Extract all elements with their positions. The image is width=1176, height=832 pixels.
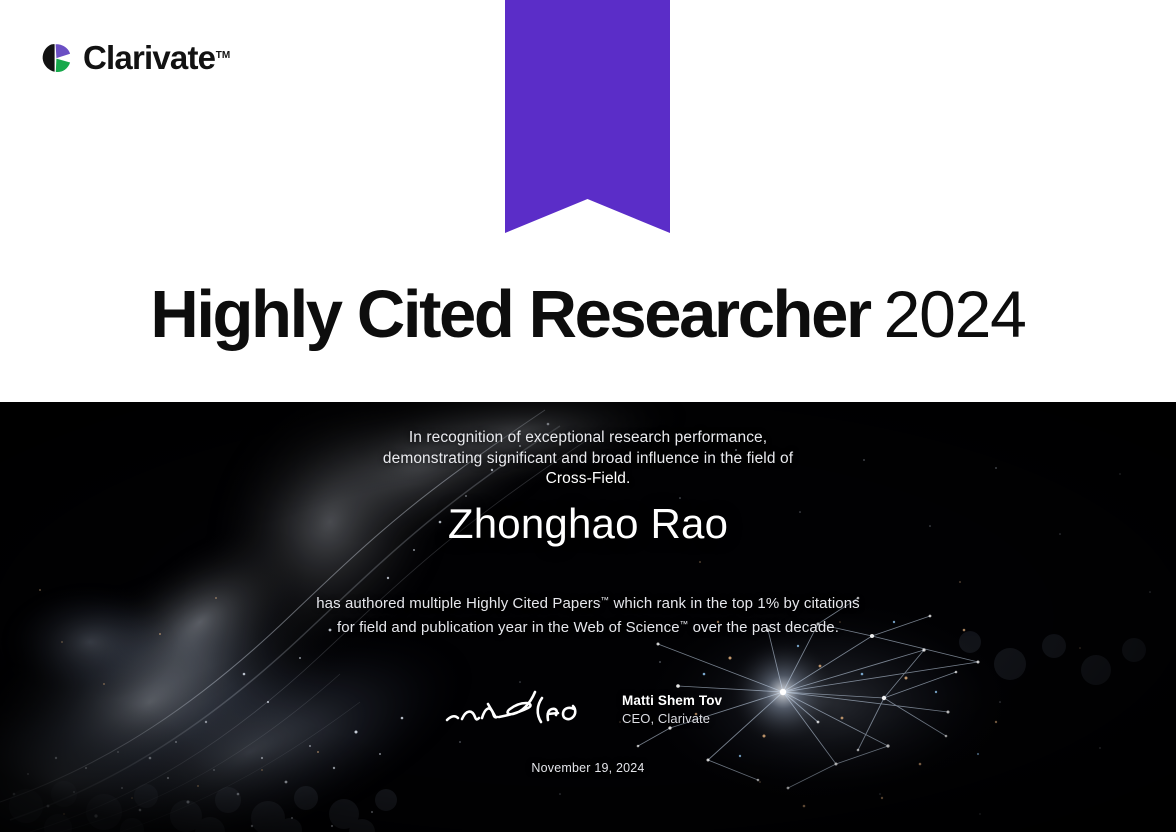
- citation-line-2-part-1: for field and publication year in the We…: [337, 619, 680, 636]
- recognition-line-2: demonstrating significant and broad infl…: [0, 449, 1176, 470]
- recognition-statement: In recognition of exceptional research p…: [0, 428, 1176, 490]
- certificate-header: Clarivate TM Highly Cited Researcher2024: [0, 0, 1176, 402]
- clarivate-trademark-symbol: TM: [216, 39, 230, 73]
- handwritten-signature-icon: [444, 684, 584, 732]
- issue-date: November 19, 2024: [0, 761, 1176, 775]
- page-title: Highly Cited Researcher2024: [0, 281, 1176, 348]
- highly-cited-papers-trademark-symbol: ™: [600, 595, 609, 605]
- clarivate-logo: Clarivate TM: [40, 38, 215, 78]
- certificate-body: In recognition of exceptional research p…: [0, 402, 1176, 832]
- citation-line-1: has authored multiple Highly Cited Paper…: [0, 590, 1176, 614]
- certificate: Clarivate TM Highly Cited Researcher2024: [0, 0, 1176, 832]
- recognition-line-1: In recognition of exceptional research p…: [0, 428, 1176, 449]
- page-title-year: 2024: [884, 277, 1026, 351]
- signer-title: CEO, Clarivate: [622, 711, 710, 726]
- citation-line-2: for field and publication year in the We…: [0, 614, 1176, 638]
- clarivate-hexagon-mark-icon: [40, 41, 74, 75]
- page-title-main: Highly Cited Researcher: [150, 277, 869, 352]
- recipient-name: Zhonghao Rao: [0, 499, 1176, 549]
- citation-line-2-part-2: over the past decade.: [688, 619, 839, 636]
- signer-name: Matti Shem Tov: [622, 693, 722, 708]
- signature-block: Matti Shem Tov CEO, Clarivate: [440, 684, 740, 744]
- citation-line-1-part-1: has authored multiple Highly Cited Paper…: [316, 595, 600, 612]
- signer-info: Matti Shem Tov CEO, Clarivate: [622, 692, 722, 728]
- clarivate-wordmark-text: Clarivate: [83, 39, 215, 76]
- clarivate-wordmark: Clarivate TM: [83, 41, 215, 75]
- award-ribbon-icon: [505, 0, 670, 233]
- citation-line-1-part-2: which rank in the top 1% by citations: [609, 595, 860, 612]
- citation-statement: has authored multiple Highly Cited Paper…: [0, 590, 1176, 638]
- research-field: Cross-Field.: [0, 469, 1176, 490]
